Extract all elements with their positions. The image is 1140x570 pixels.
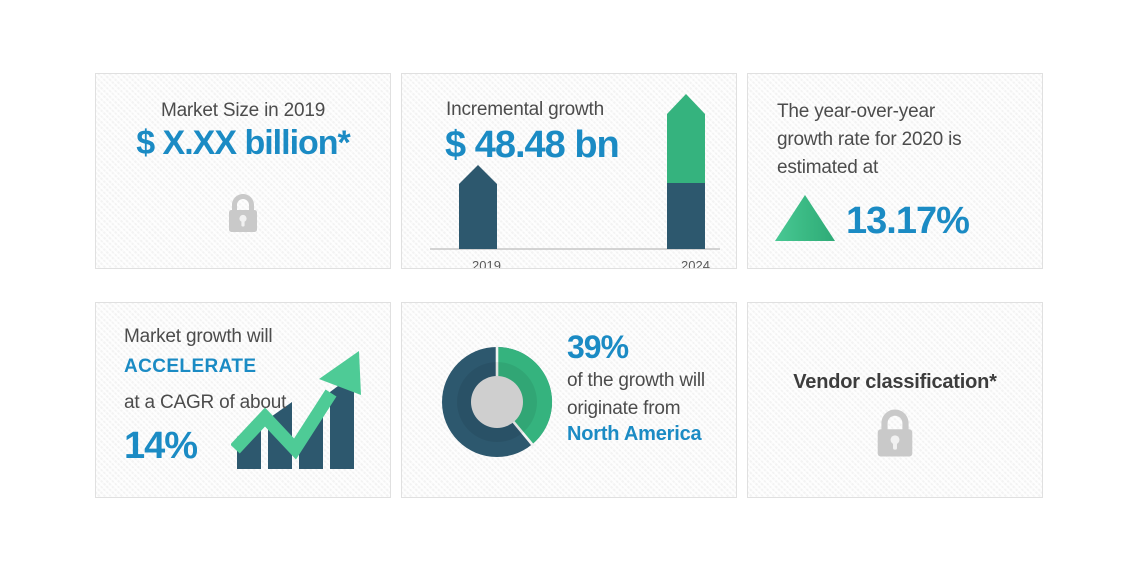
infographic-canvas: Market Size in 2019 $ X.XX billion* [0,0,1140,570]
lock-icon [874,407,916,464]
triangle-up-icon [774,194,836,247]
cagr-line-1: Market growth will [124,323,272,351]
bar-2024-base [667,183,705,249]
vendor-classification-title: Vendor classification* [748,371,1042,394]
cagr-line-2-accelerate: ACCELERATE [124,356,256,378]
yoy-growth-figure: 13.17% [774,194,969,247]
card-incremental-growth: 2019 2024 Incremental growth $ 48.48 bn [401,73,737,269]
axis-label-2024: 2024 [681,258,710,269]
card-cagr: Market growth will ACCELERATE at a CAGR … [95,302,391,498]
axis-label-2019: 2019 [472,258,501,269]
region-name: North America [567,423,701,445]
incremental-growth-value: $ 48.48 bn [445,124,619,167]
market-size-title: Market Size in 2019 [96,97,390,125]
card-market-size: Market Size in 2019 $ X.XX billion* [95,73,391,269]
region-percent: 39% [567,329,628,365]
region-desc-line-2: originate from [567,395,726,423]
yoy-text-line-1: The year-over-year [777,98,1024,126]
cagr-line-3: at a CAGR of about [124,389,286,417]
yoy-growth-description: The year-over-year growth rate for 2020 … [777,98,1024,182]
region-desc-line-1: of the growth will [567,367,726,395]
yoy-growth-value: 13.17% [846,202,969,240]
cagr-value: 14% [124,425,197,468]
donut-center-hub [471,376,523,428]
card-vendor-classification: Vendor classification* [747,302,1043,498]
region-text-block: 39% of the growth will originate from No… [567,327,726,446]
region-donut-chart [428,333,566,476]
market-size-value: $ X.XX billion* [96,124,390,163]
lock-icon [226,192,260,239]
incremental-growth-title: Incremental growth [446,96,604,124]
bar-2019 [459,165,497,249]
card-region-share: 39% of the growth will originate from No… [401,302,737,498]
yoy-text-line-2: growth rate for 2020 is [777,126,1024,154]
card-yoy-growth: The year-over-year growth rate for 2020 … [747,73,1043,269]
bar-2024-increment [667,94,705,183]
yoy-text-line-3: estimated at [777,154,1024,182]
